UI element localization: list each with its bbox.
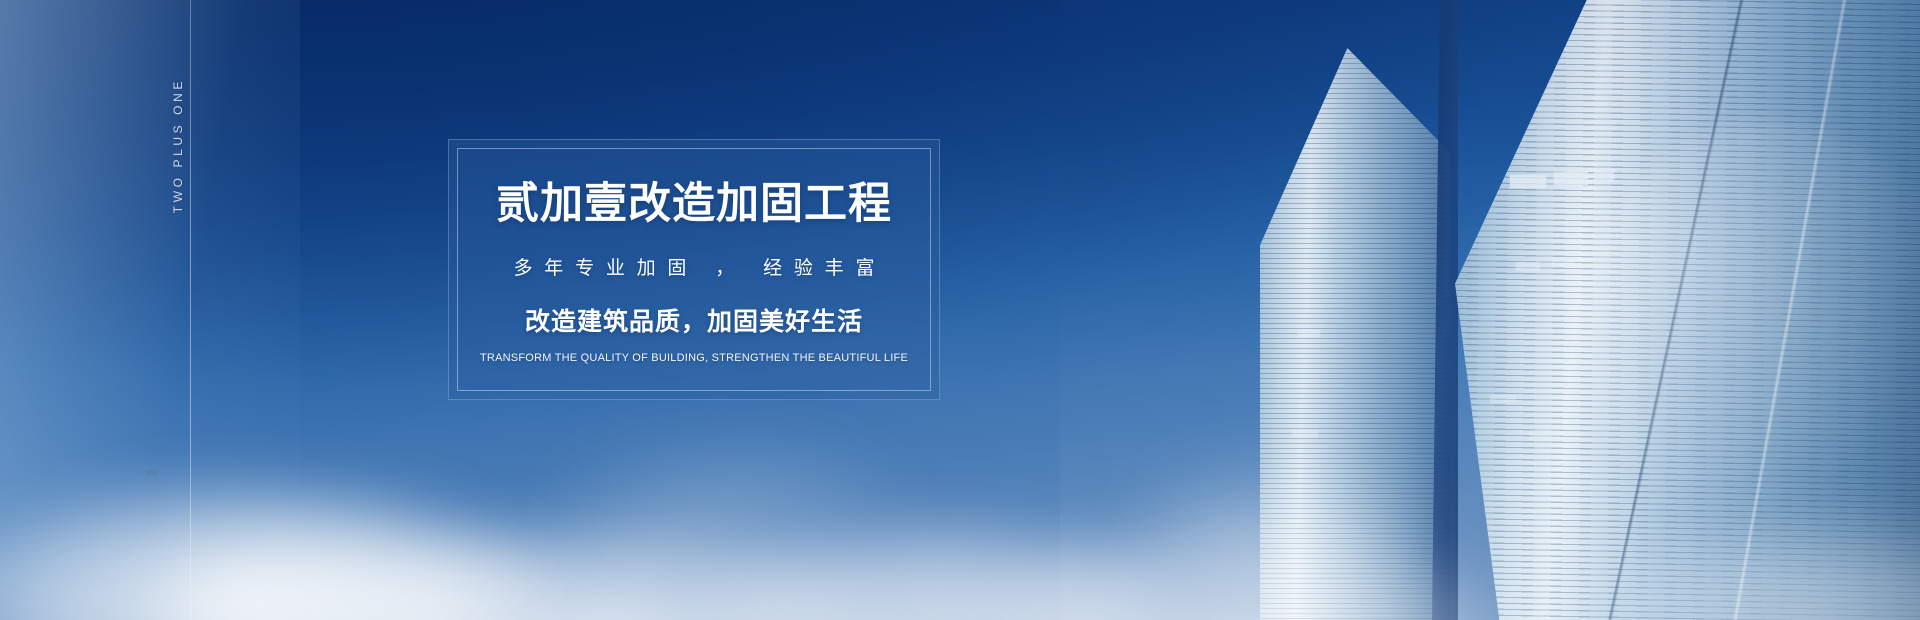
subtitle-chinese: 多年专业加固 ， 经验丰富 (502, 253, 886, 280)
page-title: 贰加壹改造加固工程 (496, 181, 892, 228)
sky-left-glow (0, 0, 300, 620)
tagline-chinese: 改造建筑品质，加固美好生活 (525, 302, 863, 338)
decorative-mark (146, 470, 158, 475)
vertical-brand-text: TWO PLUS ONE (172, 78, 216, 213)
headline-panel: 贰加壹改造加固工程 多年专业加固 ， 经验丰富 改造建筑品质，加固美好生活 TR… (448, 139, 940, 400)
headline-panel-content: 贰加壹改造加固工程 多年专业加固 ， 经验丰富 改造建筑品质，加固美好生活 TR… (449, 140, 939, 399)
subtitle-english: TRANSFORM THE QUALITY OF BUILDING, STREN… (480, 352, 908, 364)
hero-banner: TWO PLUS ONE 贰加壹改造加固工程 多年专业加固 ， 经验丰富 改造建… (0, 0, 1920, 620)
